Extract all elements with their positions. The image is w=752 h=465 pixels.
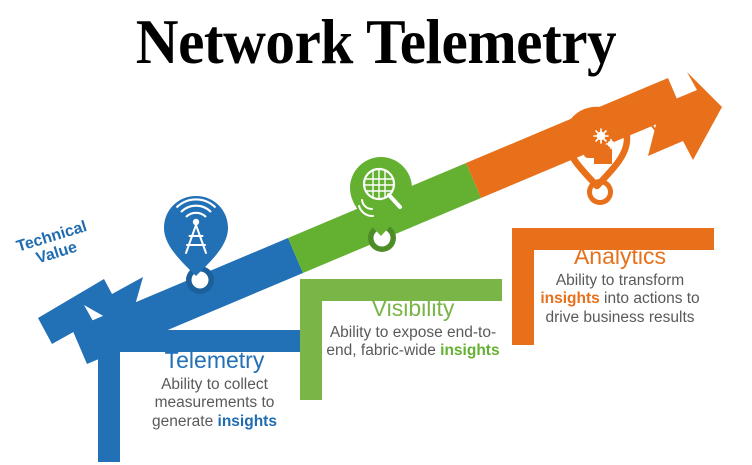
stage-body-highlight-analytics: insights bbox=[540, 290, 599, 307]
stage-block-visibility: Visibility Ability to expose end-to-end,… bbox=[318, 296, 508, 361]
stage-heading-analytics: Analytics bbox=[524, 244, 716, 269]
infographic-canvas: Network Telemetry bbox=[0, 0, 752, 465]
stage-block-analytics: Analytics Ability to transform insights … bbox=[524, 244, 716, 327]
stage-heading-telemetry: Telemetry bbox=[122, 348, 307, 373]
stage-body-visibility: Ability to expose end-to-end, fabric-wid… bbox=[318, 324, 508, 360]
stage-block-telemetry: Telemetry Ability to collect measurement… bbox=[122, 348, 307, 431]
stage-body-prefix-analytics: Ability to transform bbox=[556, 272, 684, 289]
stage-body-analytics: Ability to transform insights into actio… bbox=[524, 272, 716, 326]
broadcast-tower-pin-icon bbox=[164, 196, 228, 276]
diagram-graphics bbox=[0, 0, 752, 465]
stage-body-telemetry: Ability to collect measurements to gener… bbox=[122, 376, 307, 430]
stage-body-highlight-visibility: insights bbox=[440, 342, 499, 359]
stage-body-highlight-telemetry: insights bbox=[218, 413, 277, 430]
stage-heading-visibility: Visibility bbox=[318, 296, 508, 321]
